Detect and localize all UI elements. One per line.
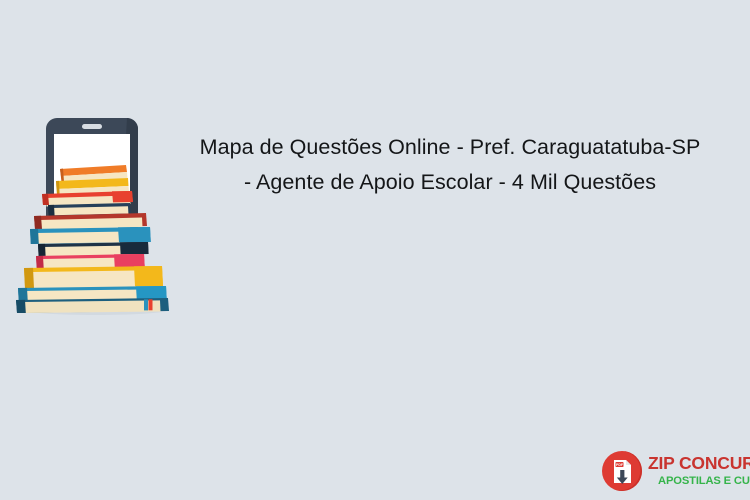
- book-teal-6: [30, 227, 151, 244]
- pdf-download-icon: PDF: [600, 449, 644, 493]
- stack-of-books-with-tablet-illustration: [8, 112, 178, 322]
- page-title-line-1: Mapa de Questões Online - Pref. Caraguat…: [160, 130, 740, 165]
- svg-text:PDF: PDF: [616, 463, 624, 467]
- zip-concursos-logo[interactable]: PDF ZIP CONCURSOS APOSTILAS E CURSOS: [600, 448, 745, 494]
- book-gold-9: [24, 266, 163, 289]
- logo-wordmark: ZIP CONCURSOS APOSTILAS E CURSOS: [648, 455, 750, 487]
- promo-banner: Mapa de Questões Online - Pref. Caraguat…: [0, 0, 750, 500]
- logo-subtitle: APOSTILAS E CURSOS: [648, 476, 750, 487]
- page-title: Mapa de Questões Online - Pref. Caraguat…: [160, 130, 740, 200]
- book-base-11: [16, 298, 169, 313]
- book-darknavy-7: [38, 242, 149, 256]
- logo-title: ZIP CONCURSOS: [648, 455, 750, 473]
- bookmark-red: [149, 299, 153, 310]
- page-title-line-2: - Agente de Apoio Escolar - 4 Mil Questõ…: [160, 165, 740, 200]
- bookmark-teal: [144, 299, 148, 310]
